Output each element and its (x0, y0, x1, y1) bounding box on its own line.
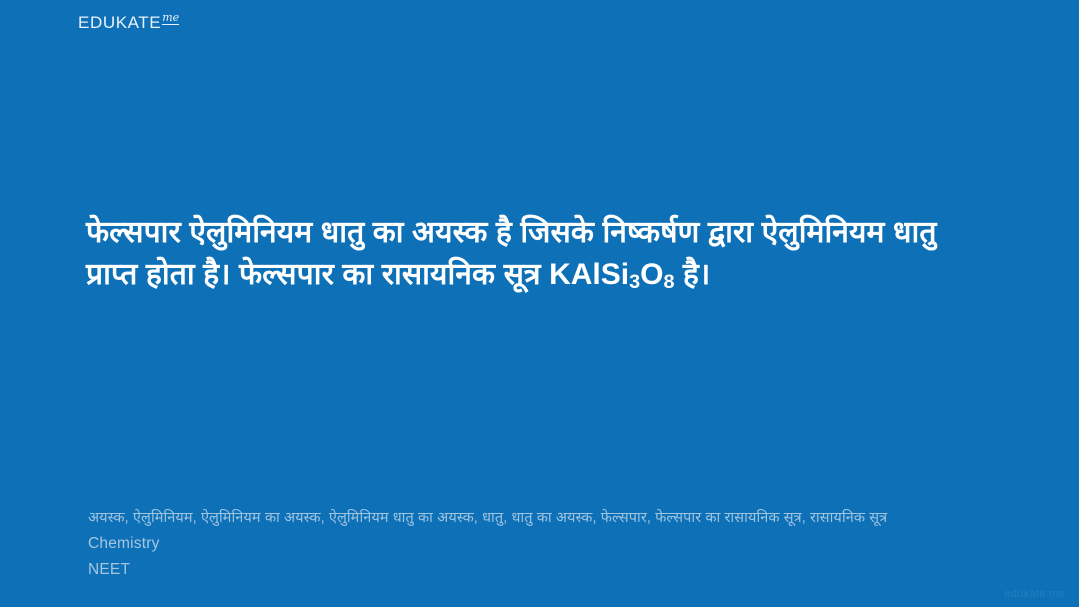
statement-line-2-suffix: है। (674, 258, 710, 291)
exam-label: NEET (88, 557, 988, 583)
statement-text: फेल्सपार ऐलुमिनियम धातु का अयस्क है जिसक… (86, 212, 986, 299)
brand-suffix: me (162, 12, 179, 25)
footer-meta: अयस्क, ऐलुमिनियम, ऐलुमिनियम का अयस्क, ऐल… (88, 506, 988, 583)
formula-part-1: KAlSi (549, 258, 629, 291)
formula-part-2: O (640, 258, 663, 291)
slide-canvas: EDUKATE me फेल्सपार ऐलुमिनियम धातु का अय… (0, 0, 1079, 607)
chemical-formula: KAlSi3O8 (549, 258, 674, 291)
formula-subscript-2: 8 (663, 271, 674, 293)
corner-watermark: edukate.me (1005, 588, 1065, 600)
brand-logo[interactable]: EDUKATE me (78, 14, 178, 31)
formula-subscript-1: 3 (629, 271, 640, 293)
brand-name: EDUKATE (78, 14, 161, 31)
subject-label: Chemistry (88, 531, 988, 557)
tag-list: अयस्क, ऐलुमिनियम, ऐलुमिनियम का अयस्क, ऐल… (88, 506, 978, 531)
statement-line-1: फेल्सपार ऐलुमिनियम धातु का अयस्क है जिसक… (86, 216, 885, 249)
